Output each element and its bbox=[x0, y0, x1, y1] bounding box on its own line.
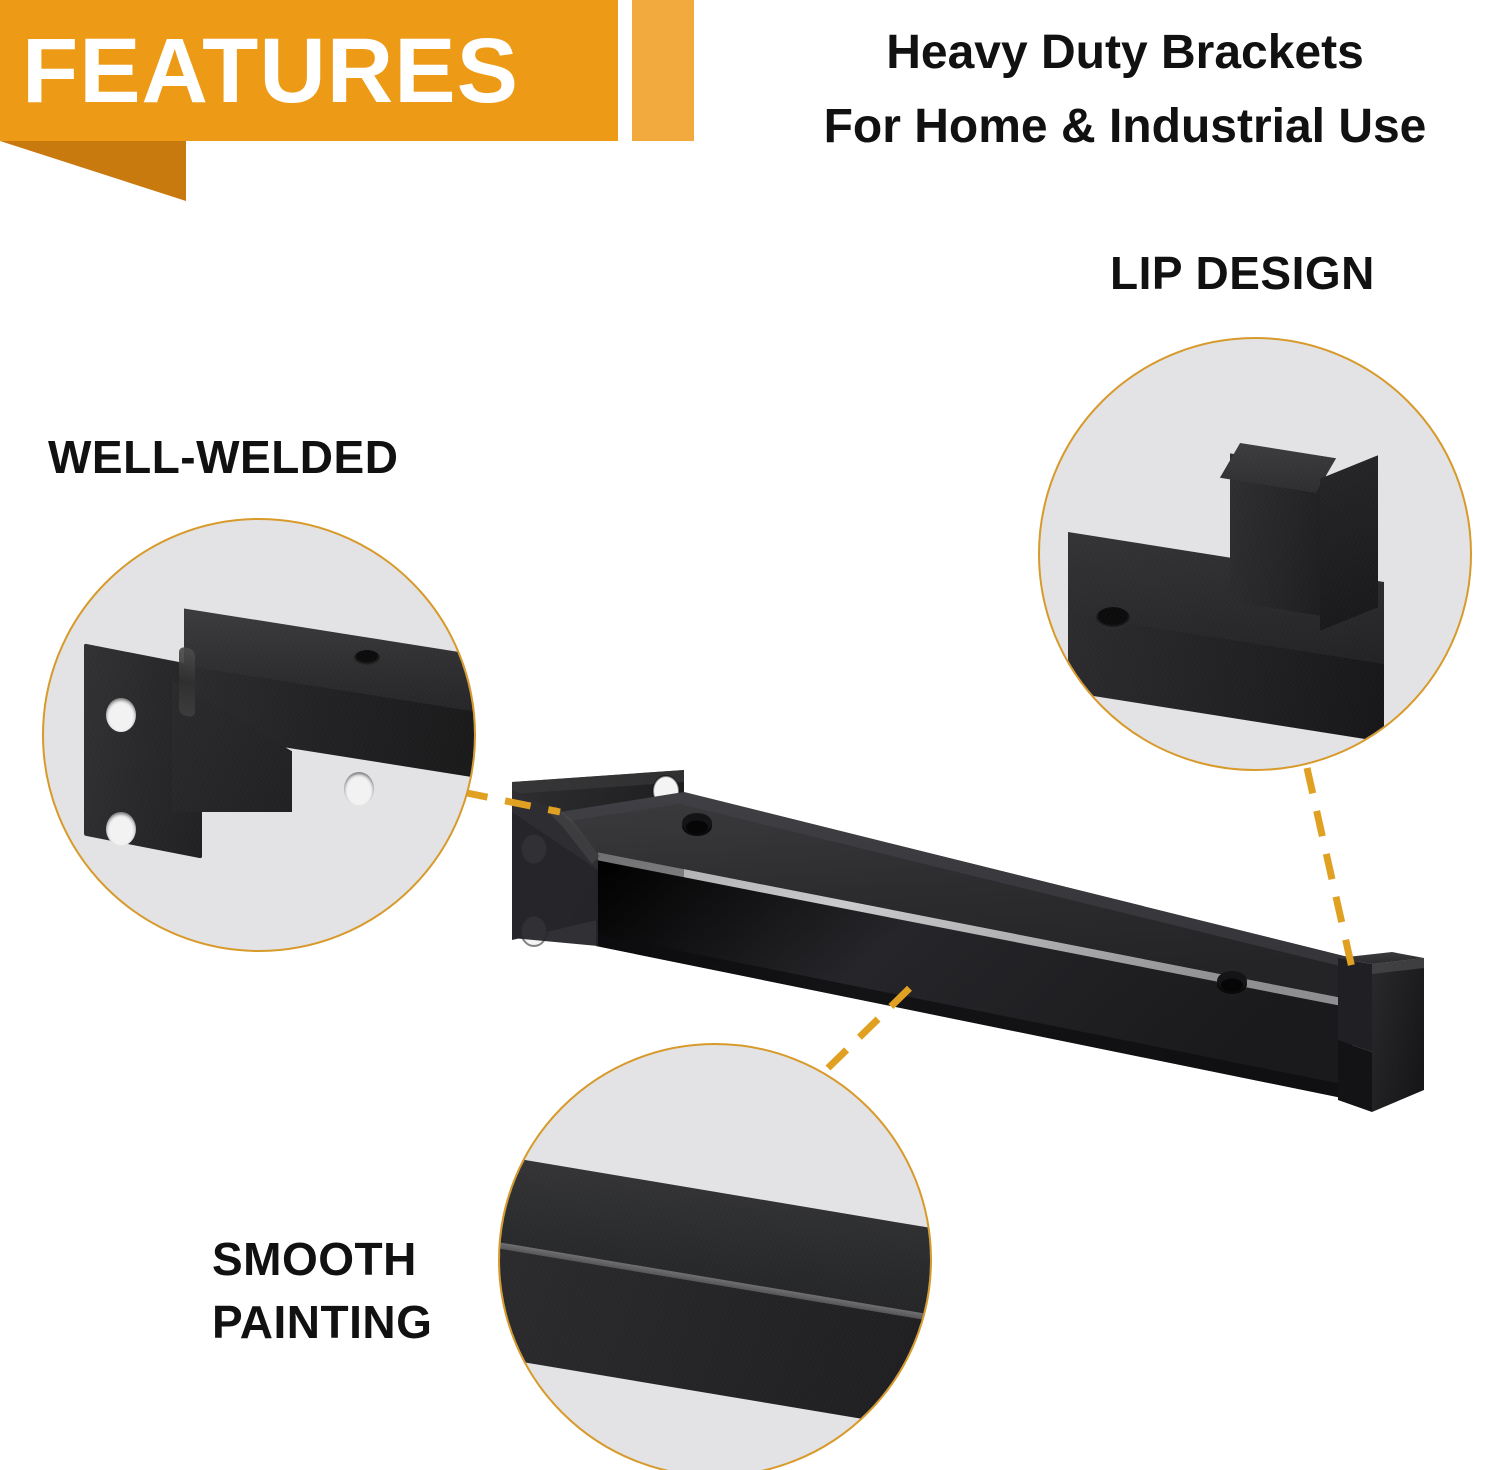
callout-circle-smooth-painting bbox=[498, 1043, 932, 1470]
weld-seam bbox=[179, 646, 195, 717]
welded-screw-hole-2 bbox=[106, 812, 136, 846]
welded-arm-hole bbox=[354, 650, 380, 666]
welded-screw-hole-3 bbox=[344, 772, 374, 806]
welded-screw-hole-1 bbox=[106, 698, 136, 732]
lip-upright-side bbox=[1320, 455, 1378, 630]
infographic-page: FEATURES Heavy Duty Brackets For Home & … bbox=[0, 0, 1500, 1470]
callout-circle-lip-design bbox=[1038, 337, 1472, 771]
dashed-connector-icon-lip bbox=[1307, 768, 1352, 968]
dashed-connector-icon-smooth bbox=[828, 980, 918, 1068]
callout-circle-well-welded bbox=[42, 518, 476, 952]
lip-screw-hole bbox=[1096, 607, 1130, 629]
dashed-connector-icon-welded bbox=[462, 792, 560, 812]
